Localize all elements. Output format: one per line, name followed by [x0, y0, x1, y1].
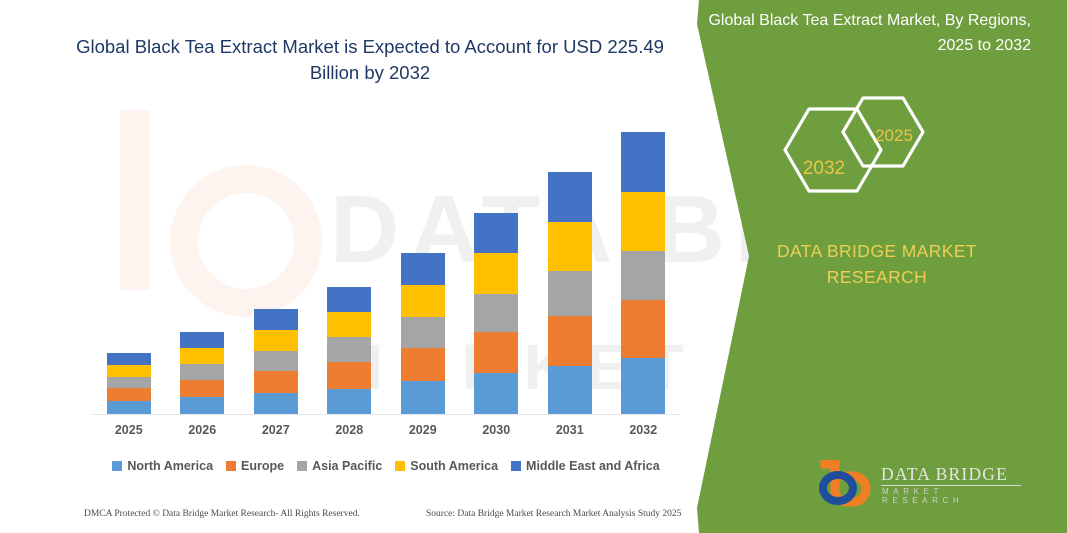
bar-segment[interactable]: [401, 317, 445, 348]
logo-name-text: DATA BRIDGE: [881, 464, 1008, 485]
infographic-canvas: DATA BRIDGE MARKET RESEARCH Global Black…: [0, 0, 1067, 533]
bar-segment[interactable]: [474, 213, 518, 254]
brand-name-text: DATA BRIDGE MARKET RESEARCH: [747, 238, 1007, 290]
legend-label: Asia Pacific: [312, 459, 382, 473]
bar-group[interactable]: [474, 213, 518, 414]
bar-segment[interactable]: [180, 348, 224, 364]
bar-group[interactable]: [107, 353, 151, 414]
legend-swatch: [395, 461, 405, 471]
legend-label: Europe: [241, 459, 284, 473]
bar-segment[interactable]: [548, 222, 592, 271]
bar-segment[interactable]: [548, 172, 592, 222]
data-bridge-logo: DATA BRIDGE MARKET RESEARCH: [819, 458, 1029, 510]
legend-item[interactable]: Europe: [226, 459, 284, 473]
logo-subtitle-text: MARKET RESEARCH: [882, 487, 1029, 505]
bar-segment[interactable]: [254, 309, 298, 330]
bar-segment[interactable]: [474, 253, 518, 294]
bar-segment[interactable]: [474, 294, 518, 332]
legend-swatch: [226, 461, 236, 471]
legend-item[interactable]: Asia Pacific: [297, 459, 382, 473]
bar-segment[interactable]: [180, 380, 224, 398]
bar-segment[interactable]: [621, 300, 665, 358]
footer-source-text: Source: Data Bridge Market Research Mark…: [426, 509, 681, 519]
chart-title: Global Black Tea Extract Market is Expec…: [60, 34, 680, 86]
footer-dmca-text: DMCA Protected © Data Bridge Market Rese…: [84, 509, 360, 519]
bar-segment[interactable]: [401, 285, 445, 317]
chart-panel: DATA BRIDGE MARKET RESEARCH Global Black…: [0, 0, 760, 533]
bar-segment[interactable]: [548, 271, 592, 316]
bar-segment[interactable]: [621, 132, 665, 192]
footer: DMCA Protected © Data Bridge Market Rese…: [0, 505, 760, 529]
bar-segment[interactable]: [107, 388, 151, 401]
bar-group[interactable]: [548, 172, 592, 414]
bar-group[interactable]: [401, 253, 445, 414]
legend-swatch: [297, 461, 307, 471]
bar-segment[interactable]: [107, 353, 151, 365]
bar-segment[interactable]: [254, 330, 298, 351]
chart-x-axis: 20252026202720282029203020312032: [92, 414, 680, 445]
bar-segment[interactable]: [107, 377, 151, 388]
bar-segment[interactable]: [401, 381, 445, 414]
x-axis-tick-label: 2029: [393, 423, 453, 437]
legend-label: Middle East and Africa: [526, 459, 660, 473]
hexagon-2025-label: 2025: [849, 126, 939, 146]
legend-swatch: [112, 461, 122, 471]
bar-segment[interactable]: [254, 393, 298, 414]
branding-panel-title: Global Black Tea Extract Market, By Regi…: [689, 8, 1049, 58]
bar-segment[interactable]: [401, 253, 445, 285]
bar-segment[interactable]: [107, 401, 151, 414]
legend-swatch: [511, 461, 521, 471]
bar-segment[interactable]: [327, 287, 371, 312]
legend-label: South America: [410, 459, 498, 473]
chart-plot-area: [92, 118, 680, 414]
bar-group[interactable]: [180, 332, 224, 414]
x-axis-tick-label: 2030: [466, 423, 526, 437]
legend-item[interactable]: Middle East and Africa: [511, 459, 660, 473]
legend-item[interactable]: North America: [112, 459, 213, 473]
x-axis-tick-label: 2031: [540, 423, 600, 437]
bar-segment[interactable]: [548, 366, 592, 414]
bar-segment[interactable]: [621, 192, 665, 250]
bar-segment[interactable]: [327, 312, 371, 337]
logo-divider: [881, 485, 1021, 486]
hexagon-2032-label: 2032: [779, 158, 869, 180]
x-axis-tick-label: 2025: [99, 423, 159, 437]
bar-segment[interactable]: [548, 316, 592, 366]
legend-item[interactable]: South America: [395, 459, 498, 473]
x-axis-tick-label: 2026: [172, 423, 232, 437]
bar-group[interactable]: [254, 309, 298, 414]
bar-segment[interactable]: [254, 371, 298, 393]
chart-legend: North AmericaEuropeAsia PacificSouth Ame…: [92, 455, 680, 477]
bar-segment[interactable]: [327, 362, 371, 389]
x-axis-tick-label: 2028: [319, 423, 379, 437]
bar-segment[interactable]: [254, 351, 298, 371]
x-axis-tick-label: 2027: [246, 423, 306, 437]
legend-label: North America: [127, 459, 213, 473]
x-axis-tick-label: 2032: [613, 423, 673, 437]
bar-group[interactable]: [327, 287, 371, 414]
bar-group[interactable]: [621, 132, 665, 414]
logo-mark-icon: [819, 460, 877, 508]
bar-segment[interactable]: [401, 348, 445, 381]
bar-segment[interactable]: [180, 332, 224, 348]
bar-segment[interactable]: [474, 332, 518, 373]
bar-segment[interactable]: [107, 365, 151, 377]
bar-segment[interactable]: [621, 251, 665, 301]
bar-segment[interactable]: [327, 337, 371, 362]
bar-segment[interactable]: [327, 389, 371, 414]
bar-segment[interactable]: [180, 397, 224, 414]
bar-segment[interactable]: [621, 358, 665, 414]
bar-segment[interactable]: [180, 364, 224, 379]
bar-segment[interactable]: [474, 373, 518, 414]
